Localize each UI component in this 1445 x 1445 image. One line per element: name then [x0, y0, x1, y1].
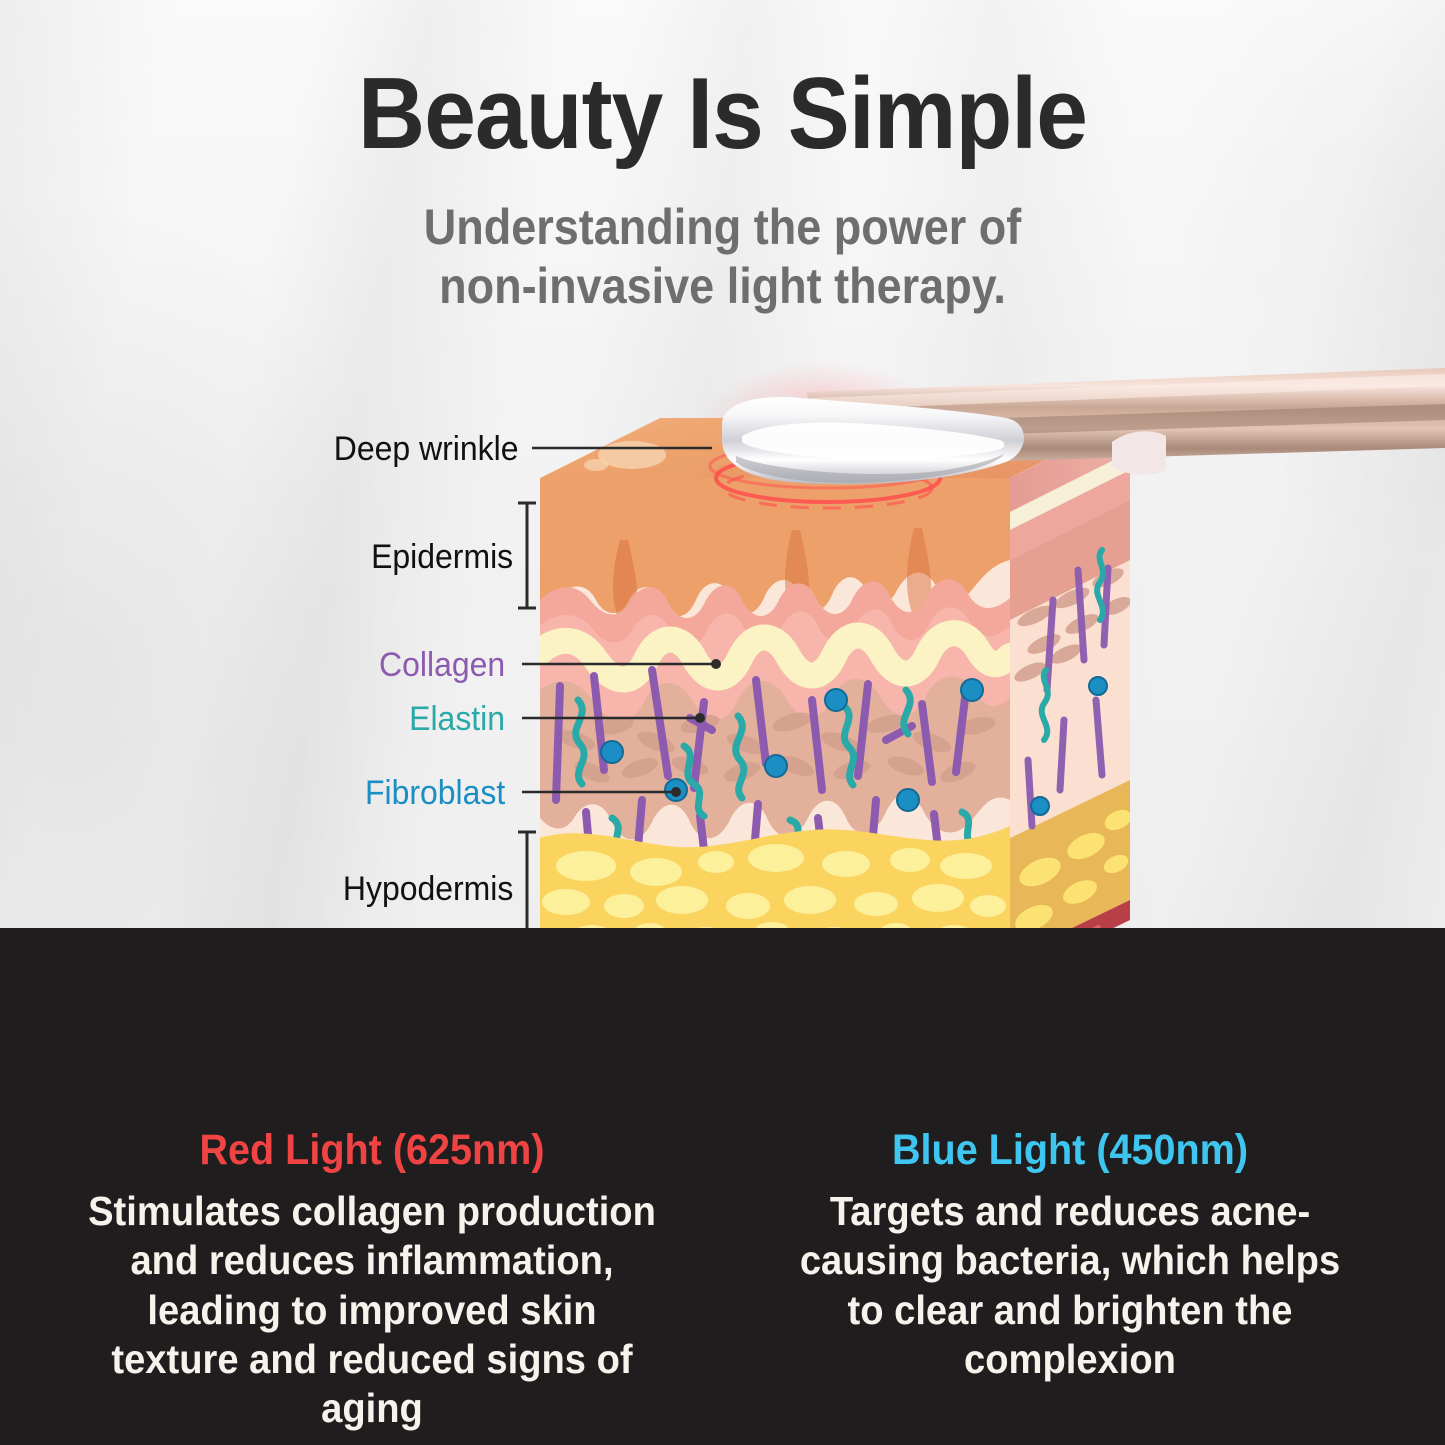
red-light-body: Stimulates collagen production and reduc… — [84, 1187, 661, 1433]
blue-light-column: Blue Light (450nm) Targets and reduces a… — [760, 1128, 1380, 1384]
blue-light-body: Targets and reduces acne-causing bacteri… — [782, 1187, 1359, 1384]
red-light-column: Red Light (625nm) Stimulates collagen pr… — [62, 1128, 682, 1433]
blue-light-heading: Blue Light (450nm) — [785, 1128, 1355, 1173]
infographic-root: Beauty Is Simple Understanding the power… — [0, 0, 1445, 1445]
red-light-heading: Red Light (625nm) — [87, 1128, 657, 1173]
